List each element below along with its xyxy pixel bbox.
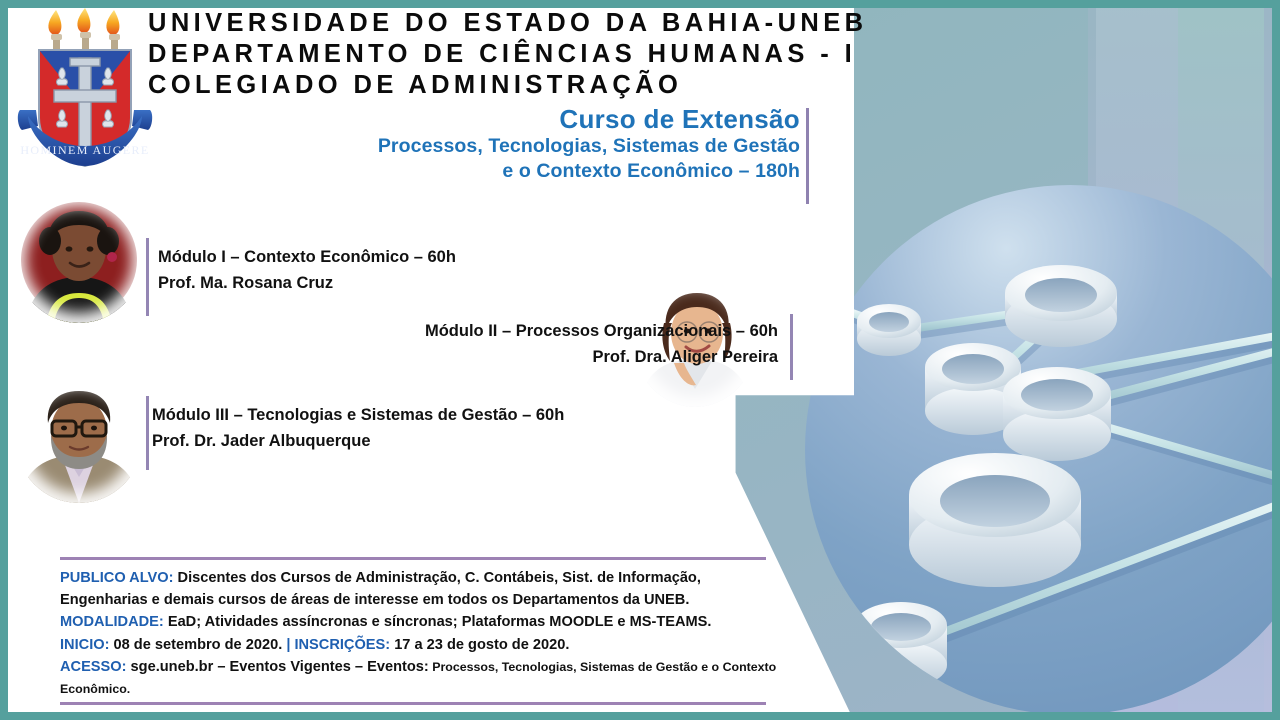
info-acesso: ACESSO: sge.uneb.br – Eventos Vigentes –… [60, 657, 784, 700]
module-1-divider [146, 238, 149, 316]
module-1: Módulo I – Contexto Econômico – 60h Prof… [158, 244, 456, 296]
poster-canvas: HOMINEM AUGERE UNIVERSIDADE DO ESTADO DA… [0, 0, 1280, 720]
info-datas: INICIO: 08 de setembro de 2020. | INSCRI… [60, 635, 784, 657]
network-nodes-illustration [805, 185, 1280, 715]
module-3: Módulo III – Tecnologias e Sistemas de G… [152, 402, 564, 454]
info-modalidade-label: MODALIDADE: [60, 614, 164, 630]
info-inscricoes-label: INSCRIÇÕES: [294, 637, 390, 653]
info-divider-top [60, 557, 766, 560]
uneb-coat-of-arms-logo: HOMINEM AUGERE [14, 6, 156, 182]
institution-header: UNIVERSIDADE DO ESTADO DA BAHIA-UNEB DEP… [148, 8, 1128, 101]
torch-icon [48, 8, 120, 56]
info-modalidade-text: EaD; Atividades assíncronas e síncronas;… [164, 614, 712, 630]
course-kicker: Curso de Extensão [300, 104, 800, 134]
info-modalidade: MODALIDADE: EaD; Atividades assíncronas … [60, 612, 784, 634]
network-nodes [855, 265, 1280, 688]
module-2: Módulo II – Processos Organizacionais – … [200, 318, 778, 370]
info-inicio-label: INICIO: [60, 637, 109, 653]
info-publico-label: PUBLICO ALVO: [60, 570, 174, 586]
module-3-teacher: Prof. Dr. Jader Albuquerque [152, 428, 564, 454]
module-2-title: Módulo II – Processos Organizacionais – … [200, 318, 778, 344]
coat-of-arms-svg: HOMINEM AUGERE [14, 6, 156, 182]
module-3-title: Módulo III – Tecnologias e Sistemas de G… [152, 402, 564, 428]
course-title-block: Curso de Extensão Processos, Tecnologias… [300, 104, 800, 184]
header-line-university: UNIVERSIDADE DO ESTADO DA BAHIA-UNEB [148, 8, 1128, 39]
network-node [1003, 367, 1111, 461]
info-acesso-label: ACESSO: [60, 659, 127, 675]
network-node [857, 304, 921, 356]
course-title-line-1: Processos, Tecnologias, Sistemas de Gest… [300, 134, 800, 159]
module-1-teacher: Prof. Ma. Rosana Cruz [158, 270, 456, 296]
motto-text: HOMINEM AUGERE [20, 143, 149, 157]
course-title-divider [806, 108, 809, 204]
module-3-divider [146, 396, 149, 470]
info-publico-alvo: PUBLICO ALVO: Discentes dos Cursos de Ad… [60, 568, 784, 611]
network-node [855, 602, 947, 688]
avatar-rosana-cruz [16, 197, 142, 323]
module-2-teacher: Prof. Dra. Aliger Pereira [200, 344, 778, 370]
info-acesso-text: sge.uneb.br – Eventos Vigentes – Eventos… [127, 659, 429, 675]
network-node [909, 453, 1081, 587]
network-node [1005, 265, 1117, 347]
module-2-divider [790, 314, 793, 380]
info-inscricoes-text: 17 a 23 de gosto de 2020. [390, 637, 569, 653]
course-title-line-2: e o Contexto Econômico – 180h [300, 159, 800, 184]
avatar-vignette [16, 197, 142, 323]
header-line-colegiado: COLEGIADO DE ADMINISTRAÇÃO [148, 70, 1128, 101]
info-divider-bottom [60, 702, 766, 705]
module-1-title: Módulo I – Contexto Econômico – 60h [158, 244, 456, 270]
info-block: PUBLICO ALVO: Discentes dos Cursos de Ad… [60, 568, 784, 701]
network-graphic-svg [805, 185, 1280, 715]
info-inicio-text: 08 de setembro de 2020. [109, 637, 286, 653]
avatar-vignette [16, 377, 142, 503]
header-line-department: DEPARTAMENTO DE CIÊNCIAS HUMANAS - I [148, 39, 1128, 70]
avatar-jader-albuquerque [16, 377, 142, 503]
